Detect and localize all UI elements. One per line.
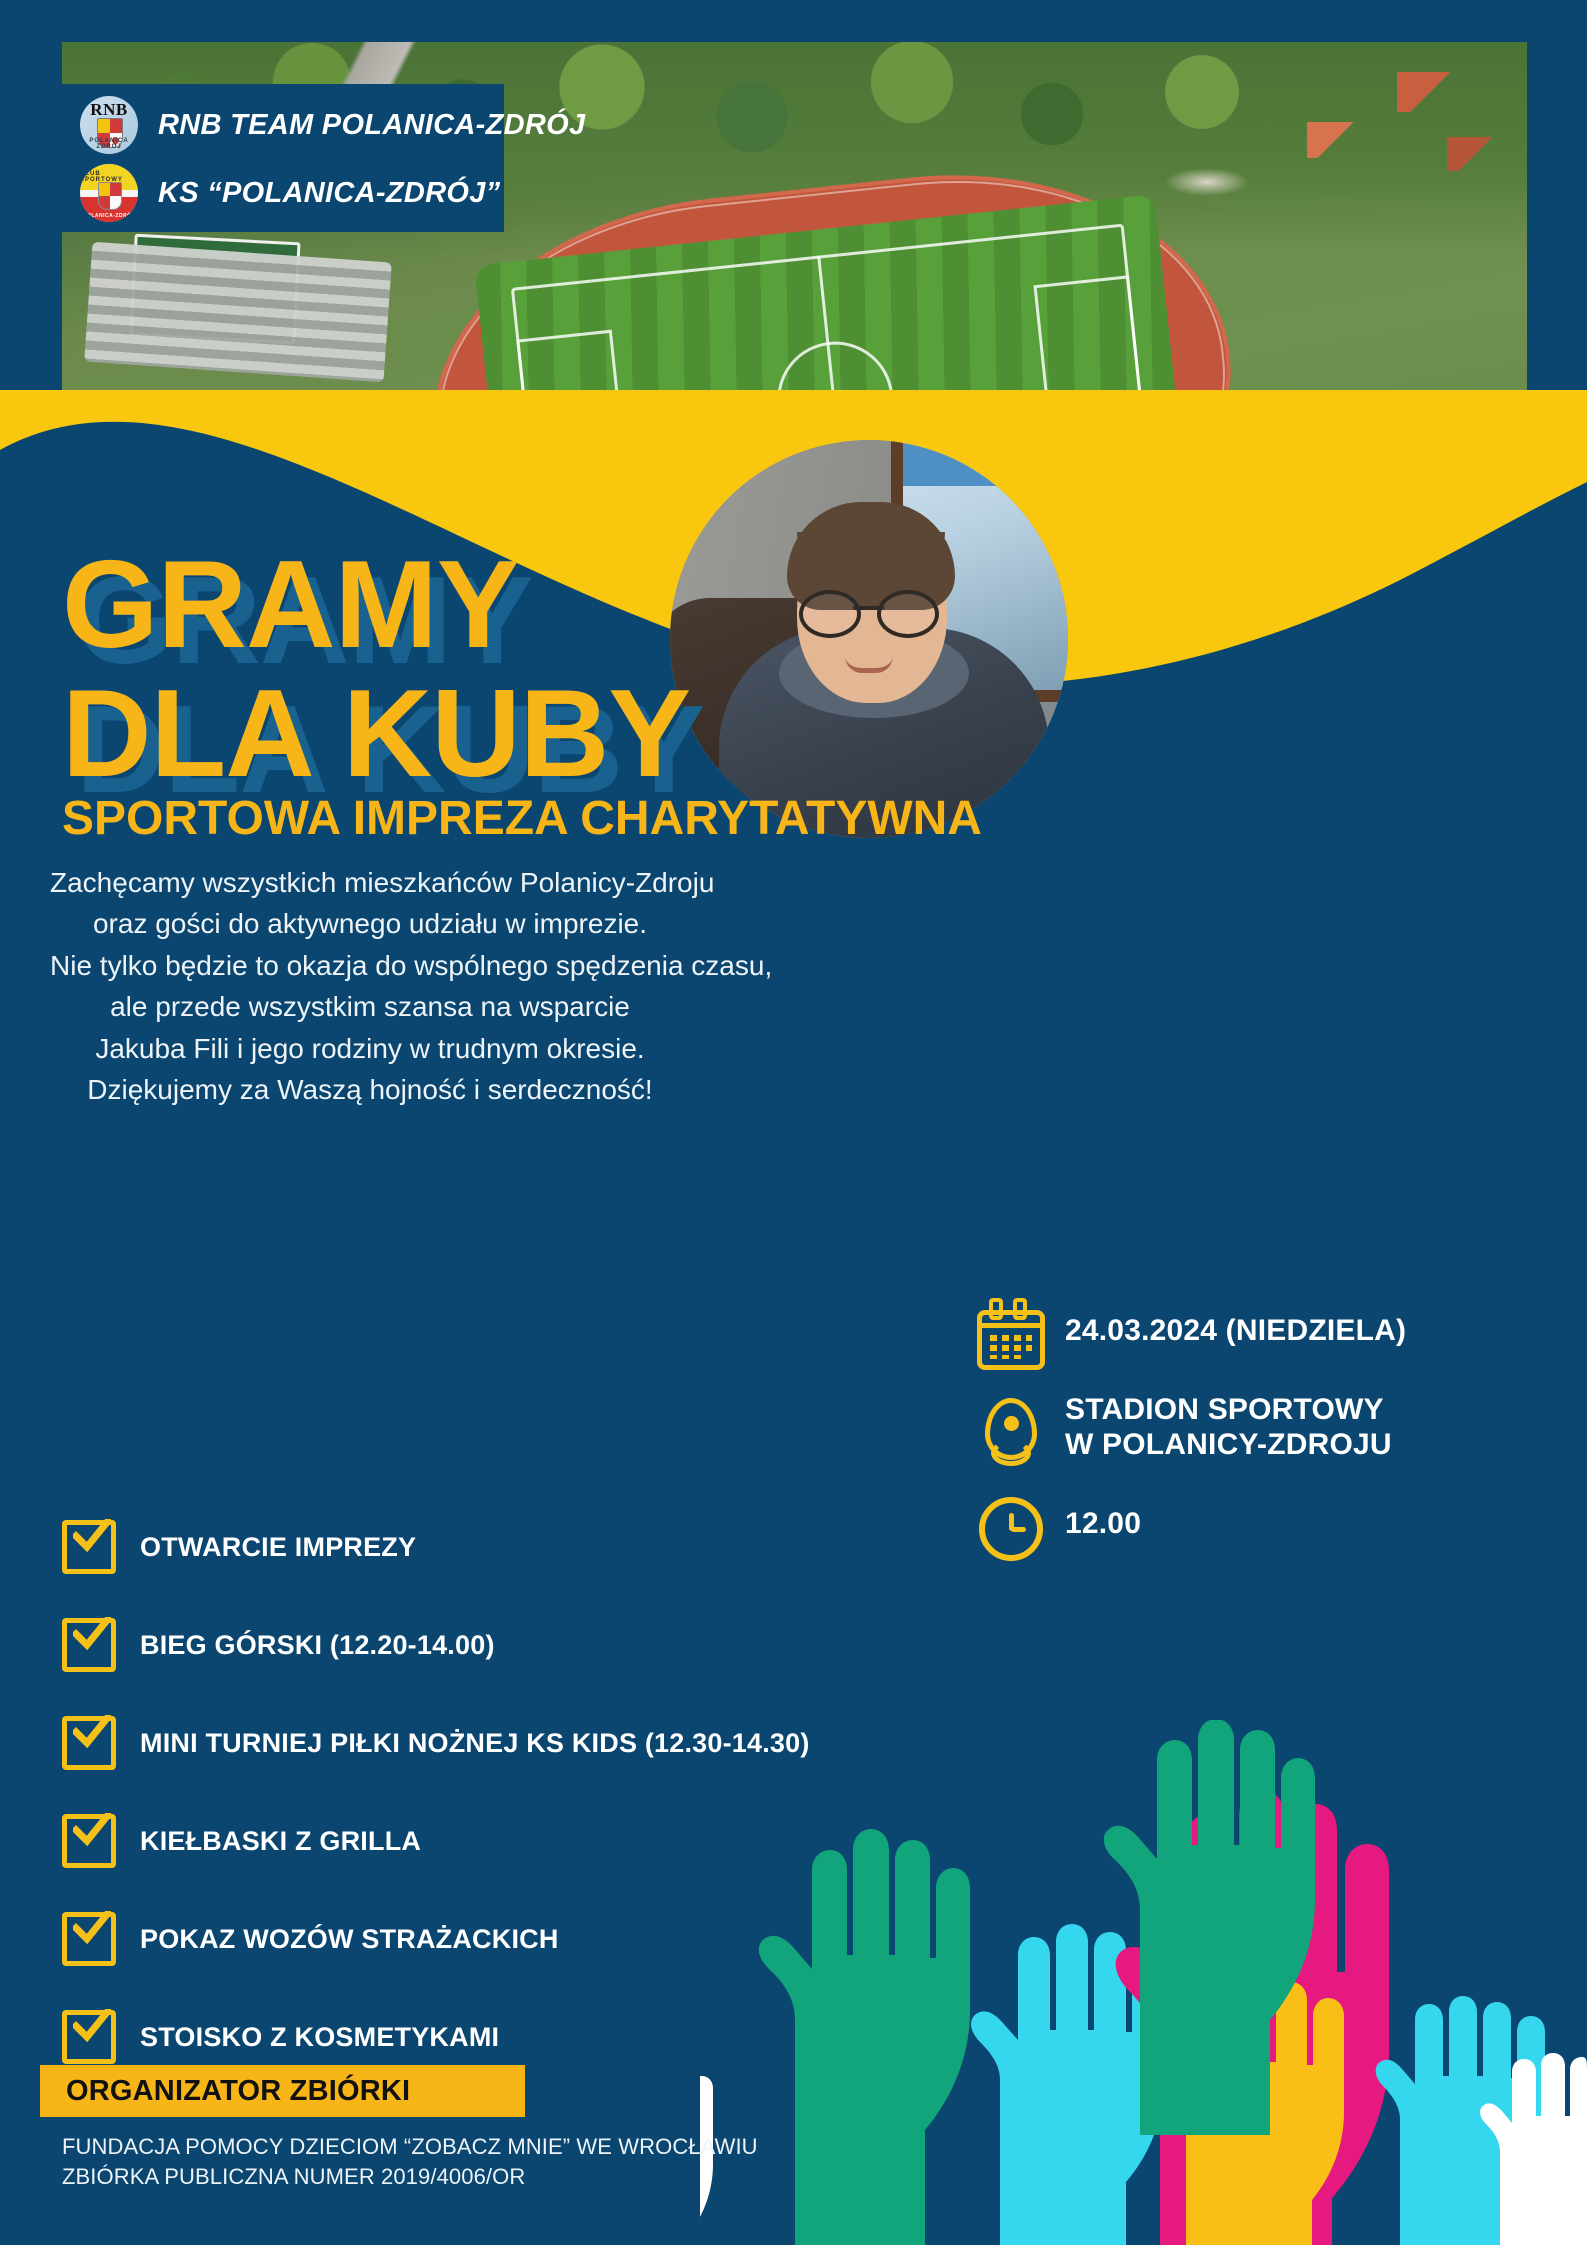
checkmark-icon [73,1715,111,1749]
checklist-label: OTWARCIE IMPREZY [140,1534,416,1561]
checkmark-icon [73,2009,111,2043]
poster-root: RNB POLANICA ZDRÓJ RNB TEAM POLANICA-ZDR… [0,0,1587,2245]
event-date-row: 24.03.2024 (NIEDZIELA) [975,1300,1406,1362]
team-name-rnb: RNB TEAM POLANICA-ZDRÓJ [158,111,585,140]
checkmark-icon [73,1519,111,1553]
checkbox-checked-icon [62,1716,116,1770]
title-line-2: DLA KUBY [62,677,690,792]
rnb-badge-ring-text: POLANICA ZDRÓJ [80,138,138,150]
ks-badge-shield-icon [98,182,122,210]
list-item: BIEG GÓRSKI (12.20-14.00) [62,1618,1022,1672]
checkbox-checked-icon [62,1520,116,1574]
beneficiary-portrait-photo [670,440,1068,838]
description-line: Dziękujemy za Waszą hojność i serdecznoś… [50,1069,690,1110]
organizer-badge: ORGANIZATOR ZBIÓRKI [40,2065,525,2117]
team-row-ks: KLUB SPORTOWY POLANICA-ZDRÓJ KS “POLANIC… [80,164,500,222]
location-pin-icon [975,1396,1037,1458]
description-line: Jakuba Fili i jego rodziny w trudnym okr… [50,1028,690,1069]
rnb-badge-title: RNB [80,101,138,118]
event-info-block: 24.03.2024 (NIEDZIELA) STADION SPORTOWY … [975,1300,1406,1585]
grandstand [84,242,392,383]
team-name-ks: KS “POLANICA-ZDRÓJ” [158,179,500,208]
organizer-permit-line: ZBIÓRKA PUBLICZNA NUMER 2019/4006/OR [62,2162,758,2192]
glasses-lens-right [877,590,939,638]
event-location-line-1: STADION SPORTOWY [1065,1393,1384,1426]
organizer-logos-panel: RNB POLANICA ZDRÓJ RNB TEAM POLANICA-ZDR… [62,84,504,232]
organizer-foundation-line: FUNDACJA POMOCY DZIECIOM “ZOBACZ MNIE” W… [62,2132,758,2162]
poster-title: GRAMY DLA KUBY [62,548,690,793]
event-time-row: 12.00 [975,1493,1406,1555]
calendar-day-grid [990,1335,1032,1359]
description-line: Zachęcamy wszystkich mieszkańców Polanic… [50,862,690,903]
checklist-label: STOISKO Z KOSMETYKAMI [140,2024,499,2051]
checkbox-checked-icon [62,2010,116,2064]
hand-green-left [759,1829,970,2245]
organizer-badge-label: ORGANIZATOR ZBIÓRKI [66,2077,410,2106]
pin-base [991,1440,1031,1466]
ks-club-badge-icon: KLUB SPORTOWY POLANICA-ZDRÓJ [80,164,138,222]
event-location-line-2: W POLANICY-ZDROJU [1065,1427,1392,1462]
checkbox-checked-icon [62,1618,116,1672]
organizer-details: FUNDACJA POMOCY DZIECIOM “ZOBACZ MNIE” W… [62,2132,758,2193]
checkbox-checked-icon [62,1912,116,1966]
calendar-icon [975,1300,1037,1362]
portrait-glasses-icon [799,590,939,630]
team-row-rnb: RNB POLANICA ZDRÓJ RNB TEAM POLANICA-ZDR… [80,96,585,154]
description-line: Nie tylko będzie to okazja do wspólnego … [50,945,690,986]
checkmark-icon [73,1911,111,1945]
description-line: ale przede wszystkim szansa na wsparcie [50,986,690,1027]
calendar-body [977,1310,1045,1370]
description-paragraph: Zachęcamy wszystkich mieszkańców Polanic… [50,862,690,1111]
event-location-row: STADION SPORTOWY W POLANICY-ZDROJU [975,1392,1406,1463]
title-line-1: GRAMY [62,548,690,663]
portrait-window-blind [903,440,1068,486]
raised-hands-illustration [700,1720,1587,2245]
glasses-lens-left [799,590,861,638]
poster-subtitle: SPORTOWA IMPREZA CHARYTATYWNA [62,795,982,843]
list-item: OTWARCIE IMPREZY [62,1520,1022,1574]
checkmark-icon [73,1617,111,1651]
rnb-team-badge-icon: RNB POLANICA ZDRÓJ [80,96,138,154]
event-time-text: 12.00 [1065,1506,1141,1541]
checklist-label: POKAZ WOZÓW STRAŻACKICH [140,1926,559,1953]
checklist-label: BIEG GÓRSKI (12.20-14.00) [140,1632,495,1659]
checkmark-icon [73,1813,111,1847]
description-line: oraz gości do aktywnego udziału w imprez… [50,903,690,944]
checkbox-checked-icon [62,1814,116,1868]
event-date-text: 24.03.2024 (NIEDZIELA) [1065,1313,1406,1348]
checklist-label: KIEŁBASKI Z GRILLA [140,1828,421,1855]
event-location-text: STADION SPORTOWY W POLANICY-ZDROJU [1065,1392,1392,1463]
